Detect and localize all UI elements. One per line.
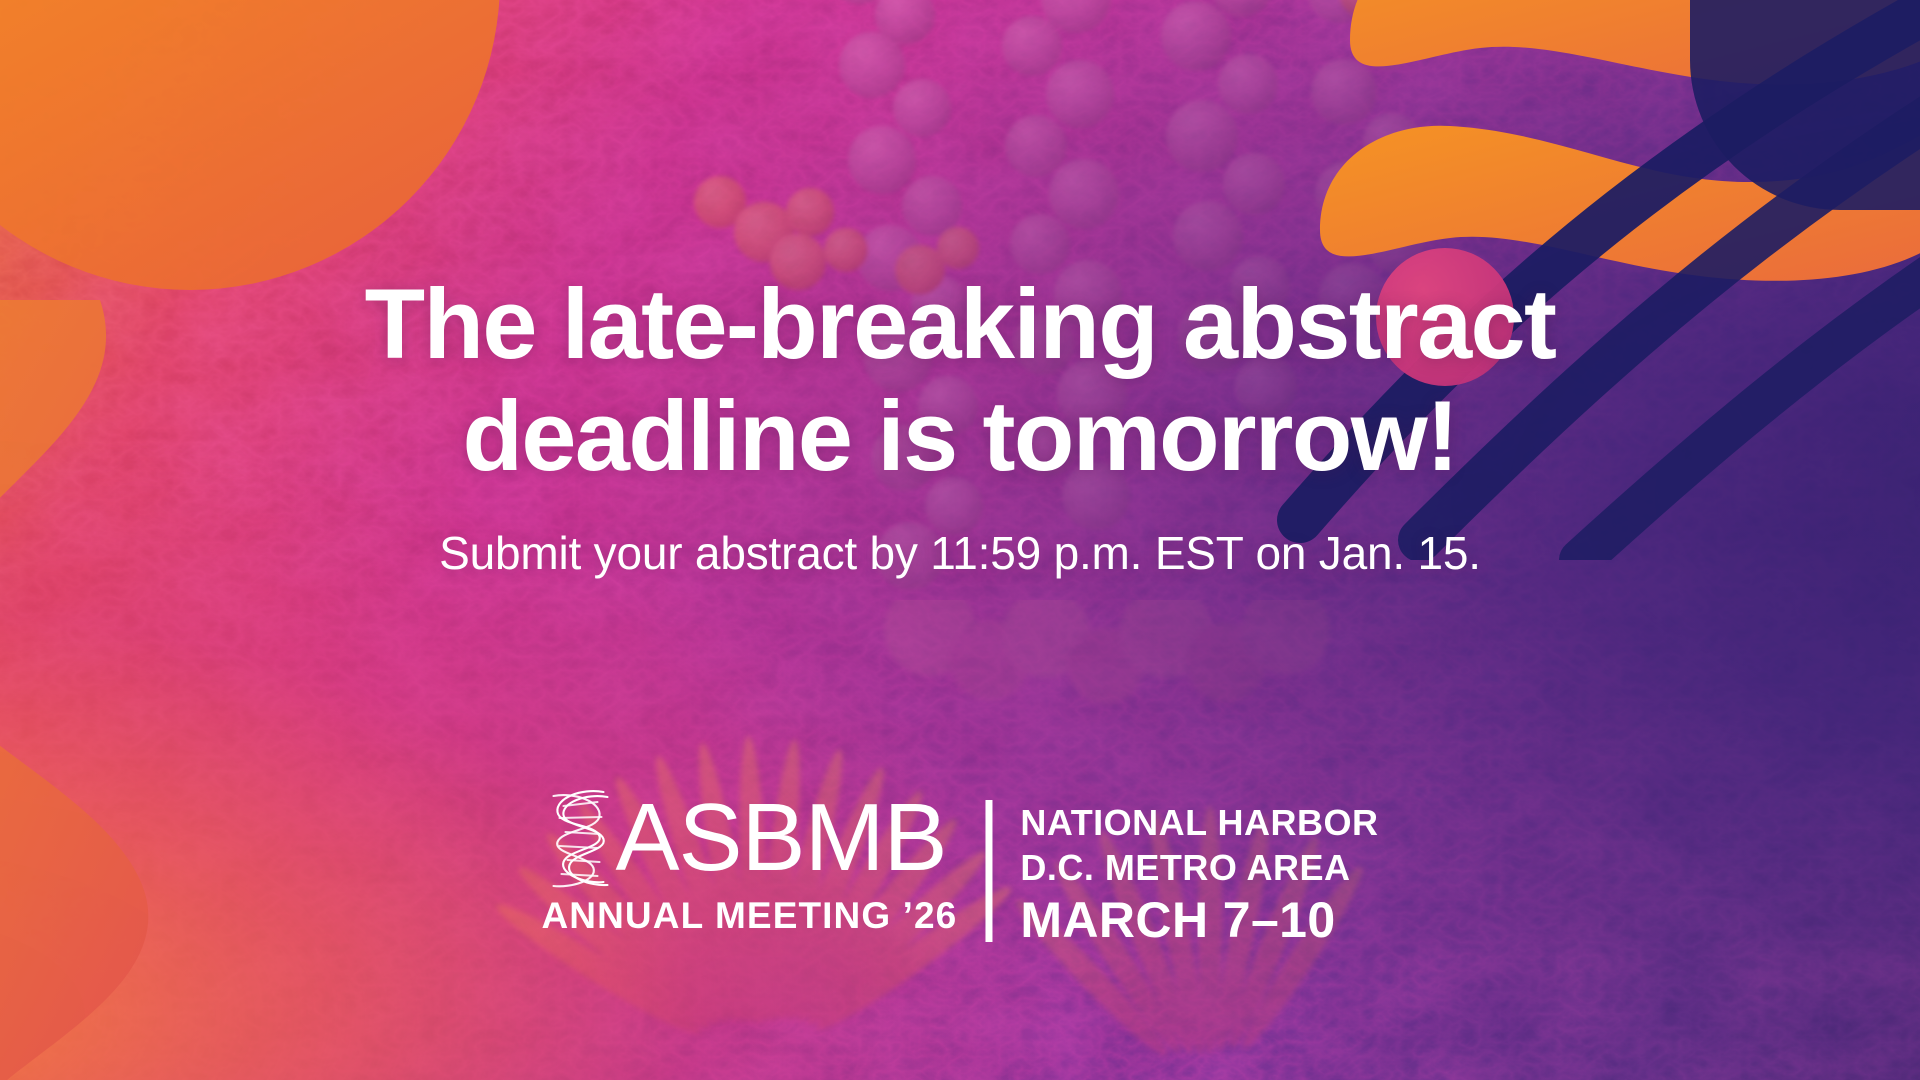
headline-line-2: deadline is tomorrow! [180,380,1740,492]
lockup-divider [985,800,992,942]
asbmb-wordmark-text: ASBMB [615,792,946,884]
banner-content: The late-breaking abstract deadline is t… [0,0,1920,1080]
event-dates: MARCH 7–10 [1020,893,1378,948]
annual-meeting-tagline: ANNUAL MEETING ’26 [541,895,957,937]
asbmb-wordmark-row: ASBMB [541,786,957,890]
headline: The late-breaking abstract deadline is t… [180,268,1740,492]
venue-line-1: NATIONAL HARBOR [1020,800,1378,845]
event-details: NATIONAL HARBOR D.C. METRO AREA MARCH 7–… [1020,800,1378,948]
dna-helix-icon [541,786,615,890]
asbmb-logo: ASBMB ANNUAL MEETING ’26 [541,786,957,937]
subheadline: Submit your abstract by 11:59 p.m. EST o… [439,526,1481,580]
promo-banner: The late-breaking abstract deadline is t… [0,0,1920,1080]
headline-line-1: The late-breaking abstract [180,268,1740,380]
event-logo-lockup: ASBMB ANNUAL MEETING ’26 NATIONAL HARBOR… [541,786,1378,948]
venue-line-2: D.C. METRO AREA [1020,845,1378,890]
